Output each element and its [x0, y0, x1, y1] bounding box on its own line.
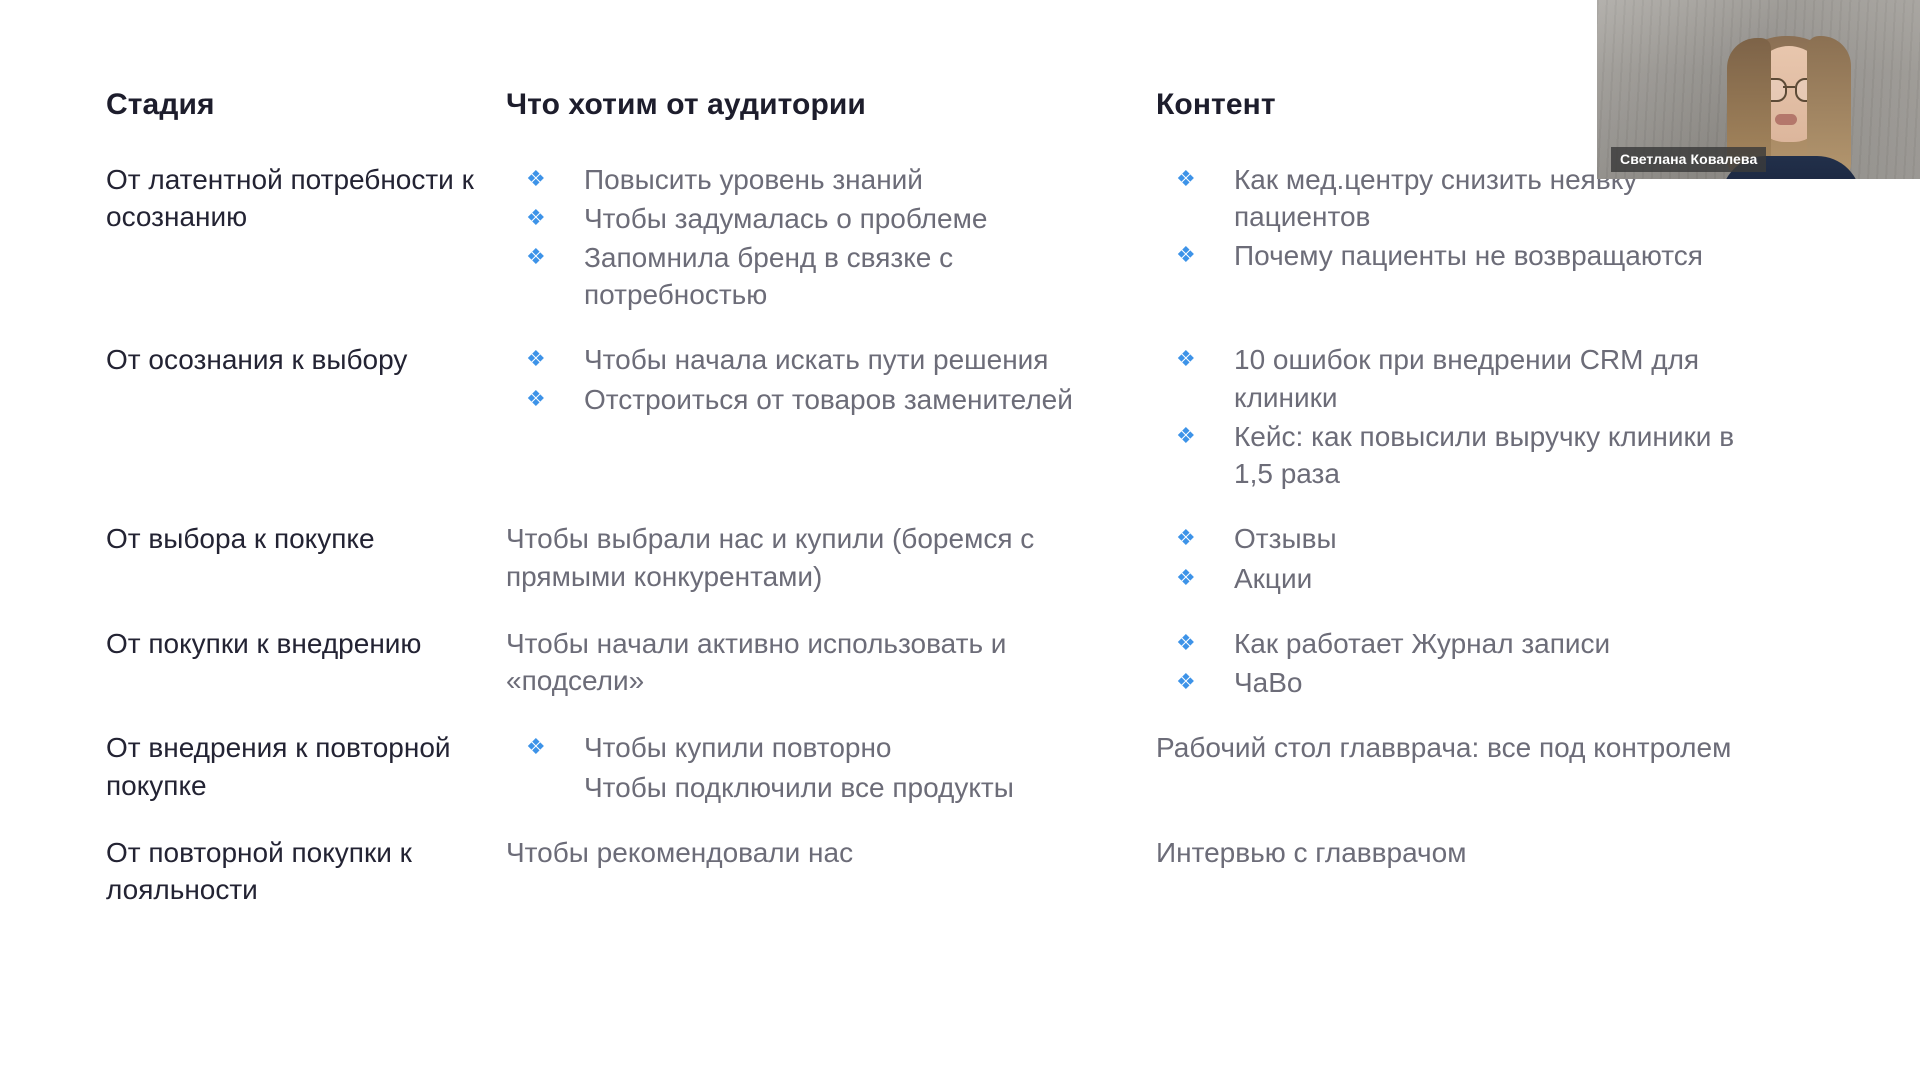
list-item-label: Чтобы начала искать пути решения: [584, 341, 1156, 378]
list-item: ❖ 10 ошибок при внедрении CRM для клиник…: [1156, 341, 1806, 415]
list-item: ❖ Акции: [1156, 560, 1806, 597]
diamond-bullet-icon: ❖: [1156, 625, 1234, 658]
content-cell: ❖ 10 ошибок при внедрении CRM для клиник…: [1156, 341, 1806, 494]
list-item-label: Запомнила бренд в связке с потребностью: [584, 239, 1156, 313]
diamond-bullet-icon: ❖: [506, 239, 584, 272]
list-item-label: Кейс: как повысили выручку клиники в 1,5…: [1234, 418, 1806, 492]
bullet-list: ❖ Отзывы ❖ Акции: [1156, 520, 1806, 596]
bullet-list: ❖ Как работает Журнал записи ❖ ЧаВо: [1156, 625, 1806, 701]
presentation-slide: Стадия Что хотим от аудитории Контент От…: [0, 0, 1920, 1080]
list-item-label: Акции: [1234, 560, 1806, 597]
content-cell: Рабочий стол главврача: все под контроле…: [1156, 729, 1806, 807]
diamond-bullet-icon: ❖: [506, 381, 584, 414]
list-item: ❖ Отзывы: [1156, 520, 1806, 557]
bullet-list: ❖ Чтобы начала искать пути решения ❖ Отс…: [506, 341, 1156, 417]
content-cell: ❖ Отзывы ❖ Акции: [1156, 520, 1806, 598]
audience-goal-cell: Чтобы рекомендовали нас: [506, 834, 1156, 908]
table-header-row: Стадия Что хотим от аудитории Контент: [106, 88, 1806, 123]
diamond-bullet-icon: ❖: [1156, 560, 1234, 593]
funnel-table: Стадия Что хотим от аудитории Контент От…: [106, 88, 1806, 934]
stage-label: От внедрения к повторной покупке: [106, 729, 506, 807]
diamond-bullet-icon: ❖: [506, 729, 584, 762]
list-item-label: Отстроиться от товаров заменителей: [584, 381, 1156, 418]
bullet-list: ❖ Чтобы купили повторно ❖ Чтобы подключи…: [506, 729, 1156, 805]
list-item-label: Почему пациенты не возвращаются: [1234, 237, 1806, 274]
audience-goal-cell: ❖ Повысить уровень знаний ❖ Чтобы задума…: [506, 161, 1156, 316]
column-header-stage: Стадия: [106, 88, 506, 123]
video-participant-tile[interactable]: Светлана Ковалева: [1597, 0, 1920, 179]
list-item: ❖ Отстроиться от товаров заменителей: [506, 381, 1156, 418]
stage-label: От латентной потребности к осознанию: [106, 161, 506, 316]
list-item: ❖ Запомнила бренд в связке с потребность…: [506, 239, 1156, 313]
audience-goal-cell: ❖ Чтобы купили повторно ❖ Чтобы подключи…: [506, 729, 1156, 807]
table-row: От латентной потребности к осознанию ❖ П…: [106, 161, 1806, 316]
diamond-bullet-icon: ❖: [1156, 664, 1234, 697]
list-item: ❖ Чтобы подключили все продукты: [506, 769, 1156, 806]
diamond-bullet-icon: ❖: [506, 200, 584, 233]
stage-label: От выбора к покупке: [106, 520, 506, 598]
participant-name-label: Светлана Ковалева: [1611, 147, 1766, 172]
diamond-bullet-icon: ❖: [1156, 161, 1234, 194]
list-item-label: 10 ошибок при внедрении CRM для клиники: [1234, 341, 1806, 415]
list-item: ❖ ЧаВо: [1156, 664, 1806, 701]
list-item: ❖ Кейс: как повысили выручку клиники в 1…: [1156, 418, 1806, 492]
list-item-label: ЧаВо: [1234, 664, 1806, 701]
diamond-bullet-icon: ❖: [506, 341, 584, 374]
table-row: От осознания к выбору ❖ Чтобы начала иск…: [106, 341, 1806, 494]
list-item-label: Отзывы: [1234, 520, 1806, 557]
list-item: ❖ Чтобы задумалась о проблеме: [506, 200, 1156, 237]
stage-label: От покупки к внедрению: [106, 625, 506, 703]
list-item: ❖ Почему пациенты не возвращаются: [1156, 237, 1806, 274]
audience-goal-cell: ❖ Чтобы начала искать пути решения ❖ Отс…: [506, 341, 1156, 494]
diamond-bullet-icon: ❖: [1156, 237, 1234, 270]
list-item-label: Повысить уровень знаний: [584, 161, 1156, 198]
stage-label: От осознания к выбору: [106, 341, 506, 494]
list-item-label: Чтобы подключили все продукты: [584, 769, 1156, 806]
list-item: ❖ Повысить уровень знаний: [506, 161, 1156, 198]
list-item-label: Чтобы задумалась о проблеме: [584, 200, 1156, 237]
table-row: От выбора к покупке Чтобы выбрали нас и …: [106, 520, 1806, 598]
stage-label: От повторной покупки к лояльности: [106, 834, 506, 908]
audience-goal-cell: Чтобы выбрали нас и купили (боремся с пр…: [506, 520, 1156, 598]
mouth: [1775, 114, 1797, 125]
list-item: ❖ Чтобы купили повторно: [506, 729, 1156, 766]
column-header-audience-goal: Что хотим от аудитории: [506, 88, 1156, 123]
content-cell: Интервью с главврачом: [1156, 834, 1806, 908]
table-row: От покупки к внедрению Чтобы начали акти…: [106, 625, 1806, 703]
diamond-bullet-icon: ❖: [1156, 341, 1234, 374]
list-item-label: Чтобы купили повторно: [584, 729, 1156, 766]
glasses-bridge: [1783, 86, 1795, 88]
table-row: От внедрения к повторной покупке ❖ Чтобы…: [106, 729, 1806, 807]
audience-goal-cell: Чтобы начали активно использовать и «под…: [506, 625, 1156, 703]
list-item: ❖ Как работает Журнал записи: [1156, 625, 1806, 662]
content-cell: ❖ Как мед.центру снизить неявку пациенто…: [1156, 161, 1806, 316]
diamond-bullet-icon: ❖: [506, 161, 584, 194]
list-item-label: Как работает Журнал записи: [1234, 625, 1806, 662]
bullet-list: ❖ Повысить уровень знаний ❖ Чтобы задума…: [506, 161, 1156, 314]
table-row: От повторной покупки к лояльности Чтобы …: [106, 834, 1806, 908]
list-item: ❖ Чтобы начала искать пути решения: [506, 341, 1156, 378]
bullet-list: ❖ 10 ошибок при внедрении CRM для клиник…: [1156, 341, 1806, 492]
diamond-bullet-icon: ❖: [1156, 520, 1234, 553]
content-cell: ❖ Как работает Журнал записи ❖ ЧаВо: [1156, 625, 1806, 703]
diamond-bullet-icon: ❖: [1156, 418, 1234, 451]
